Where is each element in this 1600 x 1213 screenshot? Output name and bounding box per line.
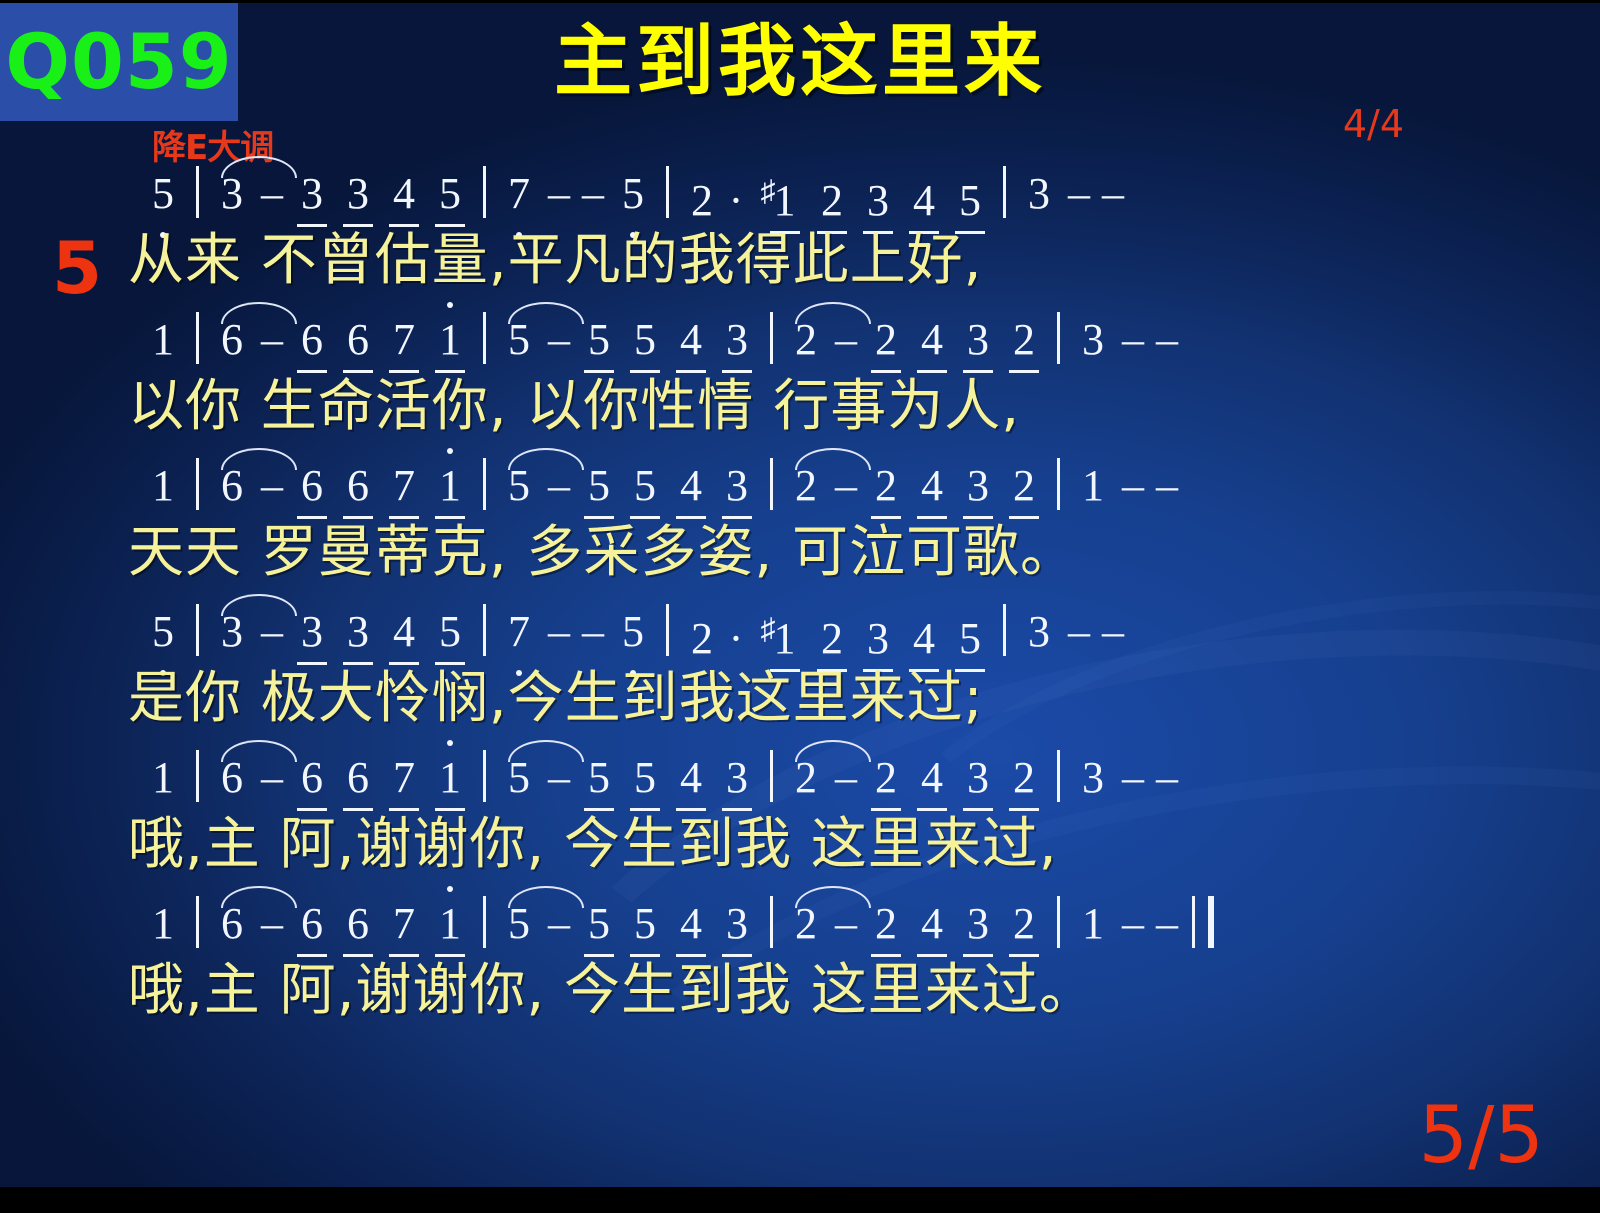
note-duration-mark: –	[255, 608, 289, 656]
note-digit: 4	[668, 462, 714, 510]
barline	[666, 604, 669, 656]
note-duration-mark: –	[1150, 462, 1184, 510]
note-digit: 2	[1001, 900, 1047, 948]
note-digit: 7	[381, 316, 427, 364]
score-area: 53–33457––52·♯123453––从来 不曾估量,平凡的我得此上好,1…	[0, 168, 1600, 1044]
note-digit: 5	[610, 170, 656, 218]
note-digit: 6	[335, 316, 381, 364]
measure: 2–2432	[783, 314, 1047, 365]
note-digit: 4	[909, 754, 955, 802]
measure: 3–3345	[209, 606, 473, 657]
page-title: 主到我这里来	[0, 22, 1600, 104]
note-digit: 4	[909, 900, 955, 948]
note-duration-mark: –	[829, 462, 863, 510]
note-digit: 2	[679, 615, 725, 663]
note-digit: 5	[622, 754, 668, 802]
barline	[1003, 604, 1006, 656]
barline	[483, 166, 486, 218]
note-digit: 2	[1001, 462, 1047, 510]
notation-row: 53–33457––52·♯123453––	[0, 606, 1600, 668]
note-digit: 7	[496, 170, 542, 218]
note-digit: 1	[140, 462, 186, 510]
score-system: 16–66715–55432–24323––哦,主 阿,谢谢你, 今生到我 这里…	[0, 752, 1600, 898]
notation-row: 16–66715–55432–24321––	[0, 898, 1600, 960]
note-digit: 3	[714, 316, 760, 364]
barline	[770, 750, 773, 802]
note-digit: 7	[496, 608, 542, 656]
note-digit: 6	[209, 462, 255, 510]
note-digit: 5	[622, 316, 668, 364]
note-digit: 3	[335, 170, 381, 218]
barline	[483, 750, 486, 802]
note-digit: 7	[381, 462, 427, 510]
note-digit: 6	[209, 900, 255, 948]
note-digit: ♯1	[747, 168, 809, 225]
note-digit: 2	[863, 462, 909, 510]
note-duration-mark: –	[542, 608, 576, 656]
notation-row: 16–66715–55432–24321––	[0, 460, 1600, 522]
note-digit: 1	[140, 900, 186, 948]
note-duration-mark: –	[576, 170, 610, 218]
note-digit: 3	[1016, 608, 1062, 656]
score-system: 16–66715–55432–24321––哦,主 阿,谢谢你, 今生到我 这里…	[0, 898, 1600, 1044]
note-digit: 1	[140, 754, 186, 802]
note-digit: 6	[335, 900, 381, 948]
note-digit: 6	[289, 462, 335, 510]
barline	[196, 312, 199, 364]
note-digit: 5	[576, 462, 622, 510]
measure: 2–2432	[783, 752, 1047, 803]
note-duration-mark: –	[255, 316, 289, 364]
lyric-line: 天天 罗曼蒂克, 多采多姿, 可泣可歌。	[0, 522, 1600, 606]
note-digit: 3	[289, 608, 335, 656]
note-duration-mark: –	[255, 462, 289, 510]
note-duration-mark: –	[542, 170, 576, 218]
measure: 5–5543	[496, 898, 760, 949]
note-digit: 2	[863, 316, 909, 364]
note-digit: 3	[714, 754, 760, 802]
barline	[196, 604, 199, 656]
note-digit: 6	[289, 900, 335, 948]
note-digit: 6	[335, 754, 381, 802]
note-digit: 5	[496, 462, 542, 510]
measure: 6–6671	[209, 898, 473, 949]
note-digit: 3	[855, 177, 901, 225]
measure: 2·♯12345	[679, 606, 993, 664]
note-duration-mark: –	[1062, 608, 1096, 656]
note-digit: 2	[809, 615, 855, 663]
score-system: 16–66715–55432–24323––以你 生命活你, 以你性情 行事为人…	[0, 314, 1600, 460]
note-digit: 3	[1070, 316, 1116, 364]
note-digit: 3	[209, 608, 255, 656]
note-duration-mark: –	[255, 170, 289, 218]
note-digit: 5	[610, 608, 656, 656]
note-digit: 4	[909, 316, 955, 364]
note-duration-mark: –	[542, 754, 576, 802]
lyric-line: 从来 不曾估量,平凡的我得此上好,	[0, 230, 1600, 314]
note-duration-mark: –	[1150, 900, 1184, 948]
measure: 1––	[1070, 898, 1184, 949]
note-digit: 5	[576, 316, 622, 364]
barline	[770, 312, 773, 364]
lyric-line: 以你 生命活你, 以你性情 行事为人,	[0, 376, 1600, 460]
measure: 1	[140, 460, 186, 511]
note-digit: 1	[140, 316, 186, 364]
time-signature-label: 4/4	[1343, 102, 1404, 146]
note-digit: 3	[335, 608, 381, 656]
note-duration-mark: –	[1096, 608, 1130, 656]
note-digit: 2	[783, 754, 829, 802]
measure: 1	[140, 314, 186, 365]
note-digit: 5	[947, 615, 993, 663]
measure: 1	[140, 898, 186, 949]
note-duration-mark: –	[829, 900, 863, 948]
note-digit: 5	[622, 900, 668, 948]
note-digit: 5	[947, 177, 993, 225]
note-digit: 7	[381, 754, 427, 802]
note-digit: 5	[622, 462, 668, 510]
note-digit: 3	[289, 170, 335, 218]
note-digit: 6	[289, 316, 335, 364]
note-duration-mark: ·	[725, 177, 747, 225]
barline	[483, 604, 486, 656]
note-digit: 3	[1070, 754, 1116, 802]
note-digit: 6	[209, 754, 255, 802]
measure: 3––	[1070, 314, 1184, 365]
measure: 6–6671	[209, 314, 473, 365]
note-digit: 3	[1016, 170, 1062, 218]
note-digit: 2	[783, 462, 829, 510]
note-duration-mark: –	[1150, 316, 1184, 364]
note-digit: 7	[381, 900, 427, 948]
note-digit: 4	[901, 615, 947, 663]
note-duration-mark: –	[542, 316, 576, 364]
measure: 3––	[1016, 606, 1130, 657]
note-digit: 4	[668, 754, 714, 802]
measure: 1––	[1070, 460, 1184, 511]
song-slide: Q059 主到我这里来 降E大调 4/4 5 53–33457––52·♯123…	[0, 0, 1600, 1213]
notation-row: 53–33457––52·♯123453––	[0, 168, 1600, 230]
note-digit: 2	[1001, 754, 1047, 802]
measure: 6–6671	[209, 460, 473, 511]
note-duration-mark: ·	[725, 615, 747, 663]
barline	[1057, 750, 1060, 802]
letterbox-top	[0, 0, 1600, 3]
barline	[666, 166, 669, 218]
note-duration-mark: –	[1116, 316, 1150, 364]
barline	[770, 896, 773, 948]
barline	[196, 750, 199, 802]
notation-row: 16–66715–55432–24323––	[0, 314, 1600, 376]
note-digit: 5	[576, 754, 622, 802]
measure: 6–6671	[209, 752, 473, 803]
note-digit: 1	[1070, 900, 1116, 948]
note-digit: 3	[955, 316, 1001, 364]
barline	[483, 458, 486, 510]
note-duration-mark: –	[542, 462, 576, 510]
note-digit: 5	[496, 754, 542, 802]
note-digit: 6	[289, 754, 335, 802]
note-digit: 2	[1001, 316, 1047, 364]
measure: 5	[140, 168, 186, 219]
note-digit: 4	[381, 608, 427, 656]
note-duration-mark: –	[829, 316, 863, 364]
final-double-barline	[1192, 896, 1214, 948]
lyric-line: 是你 极大怜悯,今生到我这里来过;	[0, 668, 1600, 752]
note-digit: 3	[955, 462, 1001, 510]
note-digit: 5	[576, 900, 622, 948]
note-digit: 3	[855, 615, 901, 663]
barline	[196, 896, 199, 948]
note-digit: 6	[209, 316, 255, 364]
note-digit: 1	[1070, 462, 1116, 510]
barline	[483, 896, 486, 948]
note-digit: 2	[809, 177, 855, 225]
note-digit: 4	[668, 900, 714, 948]
measure: 7––5	[496, 606, 656, 657]
note-duration-mark: –	[1116, 900, 1150, 948]
note-digit: 2	[783, 900, 829, 948]
note-digit: 6	[335, 462, 381, 510]
note-digit: ♯1	[747, 606, 809, 663]
note-digit: 3	[955, 754, 1001, 802]
barline	[770, 458, 773, 510]
note-digit: 1	[427, 754, 473, 802]
note-digit: 3	[209, 170, 255, 218]
note-duration-mark: –	[1116, 754, 1150, 802]
measure: 5–5543	[496, 752, 760, 803]
note-digit: 4	[381, 170, 427, 218]
note-duration-mark: –	[1062, 170, 1096, 218]
measure: 7––5	[496, 168, 656, 219]
note-duration-mark: –	[255, 754, 289, 802]
note-digit: 3	[955, 900, 1001, 948]
note-digit: 2	[863, 754, 909, 802]
barline	[1057, 312, 1060, 364]
measure: 3––	[1016, 168, 1130, 219]
note-digit: 1	[427, 900, 473, 948]
note-digit: 4	[909, 462, 955, 510]
measure: 5–5543	[496, 314, 760, 365]
note-digit: 5	[140, 608, 186, 656]
note-digit: 4	[901, 177, 947, 225]
note-duration-mark: –	[576, 608, 610, 656]
measure: 2·♯12345	[679, 168, 993, 226]
note-duration-mark: –	[1096, 170, 1130, 218]
notation-row: 16–66715–55432–24323––	[0, 752, 1600, 814]
page-number: 5/5	[1418, 1097, 1544, 1175]
barline	[483, 312, 486, 364]
barline	[1057, 458, 1060, 510]
lyric-line: 哦,主 阿,谢谢你, 今生到我 这里来过,	[0, 814, 1600, 898]
barline	[1057, 896, 1060, 948]
lyric-line: 哦,主 阿,谢谢你, 今生到我 这里来过。	[0, 960, 1600, 1044]
measure: 2–2432	[783, 898, 1047, 949]
measure: 3––	[1070, 752, 1184, 803]
measure: 1	[140, 752, 186, 803]
note-digit: 5	[496, 316, 542, 364]
note-digit: 2	[783, 316, 829, 364]
note-digit: 1	[427, 462, 473, 510]
note-digit: 4	[668, 316, 714, 364]
barline	[196, 458, 199, 510]
note-duration-mark: –	[829, 754, 863, 802]
letterbox-bottom	[0, 1187, 1600, 1213]
note-digit: 3	[714, 462, 760, 510]
note-digit: 5	[427, 608, 473, 656]
note-digit: 3	[714, 900, 760, 948]
note-duration-mark: –	[255, 900, 289, 948]
score-system: 16–66715–55432–24321––天天 罗曼蒂克, 多采多姿, 可泣可…	[0, 460, 1600, 606]
score-system: 53–33457––52·♯123453––是你 极大怜悯,今生到我这里来过;	[0, 606, 1600, 752]
measure: 5–5543	[496, 460, 760, 511]
barline	[1003, 166, 1006, 218]
note-duration-mark: –	[1116, 462, 1150, 510]
note-digit: 5	[496, 900, 542, 948]
note-digit: 1	[427, 316, 473, 364]
note-digit: 2	[863, 900, 909, 948]
barline	[196, 166, 199, 218]
score-system: 53–33457––52·♯123453––从来 不曾估量,平凡的我得此上好,	[0, 168, 1600, 314]
note-digit: 5	[140, 170, 186, 218]
note-digit: 2	[679, 177, 725, 225]
measure: 3–3345	[209, 168, 473, 219]
note-duration-mark: –	[542, 900, 576, 948]
note-digit: 5	[427, 170, 473, 218]
measure: 5	[140, 606, 186, 657]
measure: 2–2432	[783, 460, 1047, 511]
note-duration-mark: –	[1150, 754, 1184, 802]
